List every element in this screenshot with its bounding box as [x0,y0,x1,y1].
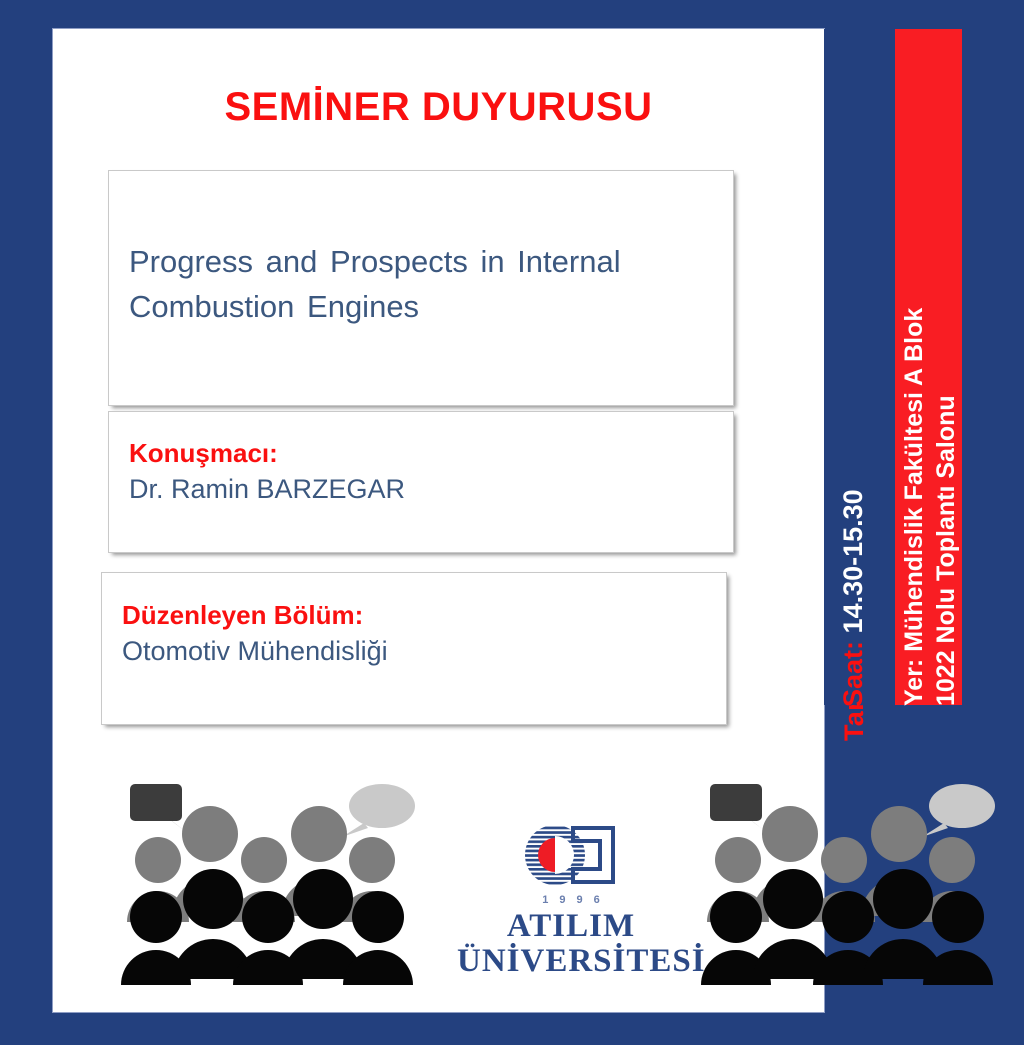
logo-year: 1996 [457,894,685,906]
speaker-label: Konuşmacı: [129,436,723,471]
place-line-1: Yer: Mühendislik Fakültesi A Blok [900,178,929,706]
time-label: Saat: [838,641,868,707]
speaker-name: Dr. Ramin BARZEGAR [129,471,723,507]
poster-page: SEMİNER DUYURUSU Progress and Prospects … [53,29,824,1012]
seminar-time: Saat: 14.30-15.30 [838,395,869,707]
audience-crowd-left [116,777,416,1027]
seminar-topic-panel: Progress and Prospects in Internal Combu… [108,170,734,406]
speech-bubble-oval-icon [922,784,995,837]
audience-crowd-right [696,777,996,1027]
place-line-2: 1022 Nolu Toplantı Salonu [932,258,961,706]
seminar-poster: SEMİNER DUYURUSU Progress and Prospects … [0,0,1024,1045]
speaker-body: Konuşmacı: Dr. Ramin BARZEGAR [129,436,723,508]
logo-name-atilim: ATILIM [457,910,685,943]
department-label: Düzenleyen Bölüm: [122,598,716,633]
speech-bubble-square-icon [130,784,186,832]
seminar-topic-text: Progress and Prospects in Internal Combu… [129,239,725,330]
time-value: 14.30-15.30 [838,489,868,633]
atilim-a-mark-icon [517,822,625,888]
logo-name-universitesi: ÜNİVERSİTESİ [457,945,685,978]
speech-bubble-square-icon [710,784,766,832]
page-title: SEMİNER DUYURUSU [53,85,824,130]
speech-bubble-oval-icon [342,784,415,837]
speaker-panel: Konuşmacı: Dr. Ramin BARZEGAR [108,411,734,553]
department-panel: Düzenleyen Bölüm: Otomotiv Mühendisliği [101,572,727,725]
department-body: Düzenleyen Bölüm: Otomotiv Mühendisliği [122,598,716,670]
department-name: Otomotiv Mühendisliği [122,633,716,669]
university-logo: 1996 ATILIM ÜNİVERSİTESİ [457,822,685,978]
